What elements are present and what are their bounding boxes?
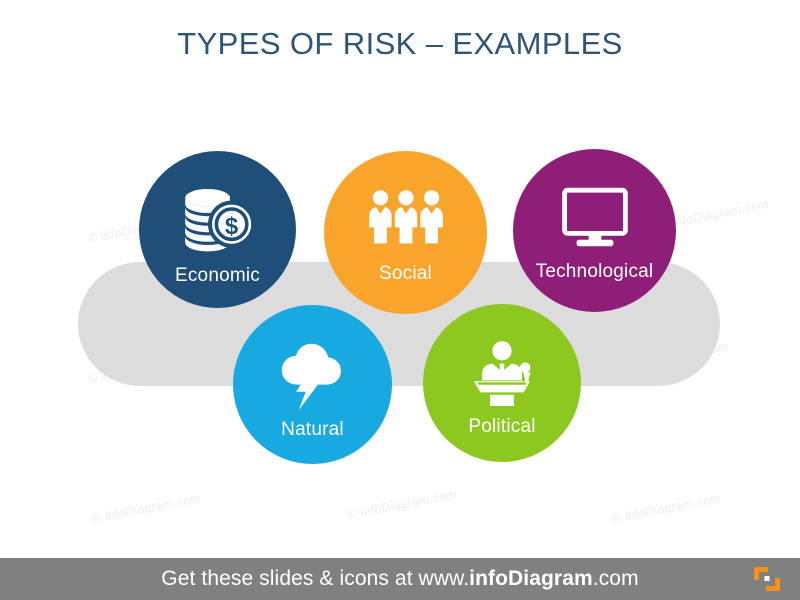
risk-circle-social[interactable]: Social xyxy=(324,151,487,314)
risk-circle-label: Technological xyxy=(536,261,654,283)
risk-circle-label: Social xyxy=(379,263,432,285)
storm-cloud-lightning-icon xyxy=(273,339,353,411)
watermark: © infoDiagram.com xyxy=(611,491,722,526)
risk-circle-political[interactable]: Political xyxy=(423,304,581,462)
risk-circle-economic[interactable]: $ Economic xyxy=(139,151,296,308)
risk-circle-technological[interactable]: Technological xyxy=(513,149,676,312)
watermark: © infoDiagram.com xyxy=(347,487,458,522)
speaker-podium-icon xyxy=(462,338,542,410)
footer-text: Get these slides & icons at www.infoDiag… xyxy=(161,567,638,591)
risk-circle-label: Natural xyxy=(281,419,344,441)
risk-circle-label: Economic xyxy=(175,265,260,287)
svg-text:$: $ xyxy=(224,213,238,240)
watermark: © infoDiagram.com xyxy=(91,491,202,526)
infodiagram-brackets-logo xyxy=(750,564,784,594)
computer-monitor-icon xyxy=(555,183,635,255)
page-title: TYPES OF RISK – EXAMPLES xyxy=(0,26,800,62)
risk-circle-natural[interactable]: Natural xyxy=(233,305,392,464)
three-people-icon xyxy=(366,185,446,257)
slide-canvas: TYPES OF RISK – EXAMPLES © infoDiagram.c… xyxy=(0,0,800,600)
coins-dollar-icon: $ xyxy=(178,185,258,257)
footer-brand: infoDiagram xyxy=(469,567,593,590)
risk-circle-label: Political xyxy=(468,416,535,438)
footer-prefix: Get these slides & icons at www. xyxy=(161,567,469,590)
footer-bar: Get these slides & icons at www.infoDiag… xyxy=(0,558,800,600)
footer-suffix: .com xyxy=(593,567,639,590)
